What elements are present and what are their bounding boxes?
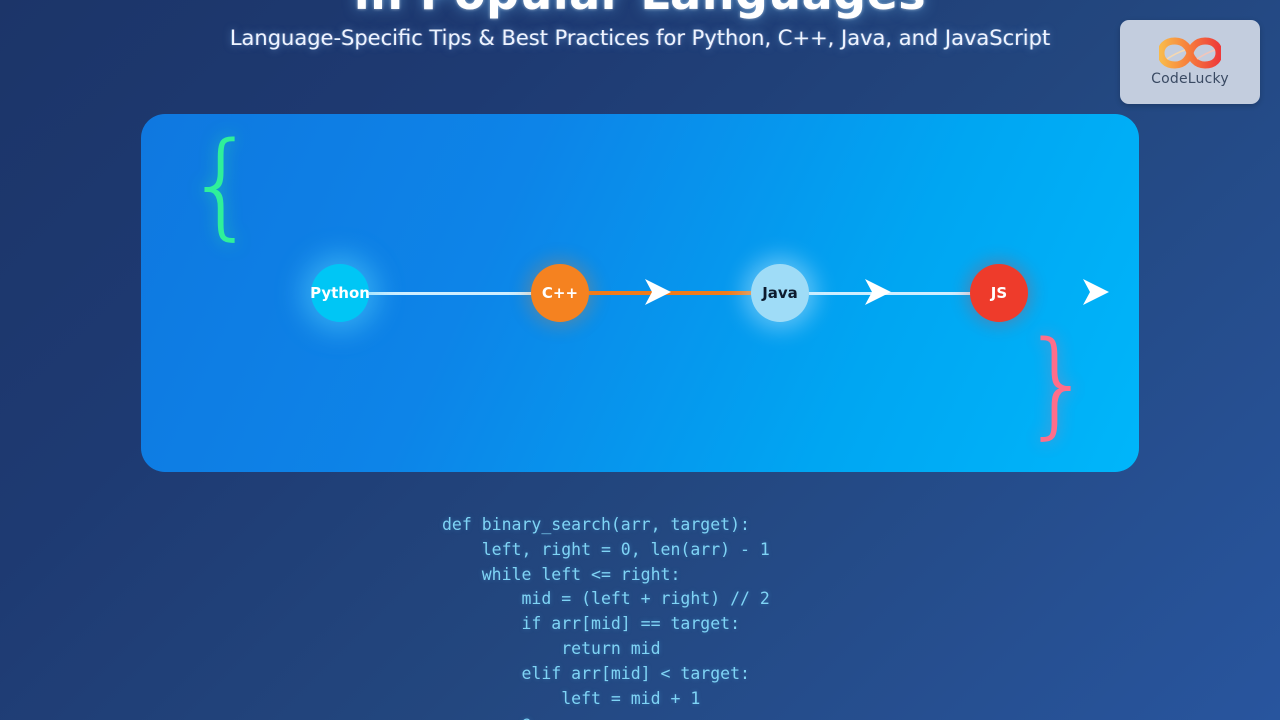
arrow-right-icon xyxy=(861,275,895,309)
page-title: in Popular Languages xyxy=(0,0,1280,20)
page-subtitle: Language-Specific Tips & Best Practices … xyxy=(0,26,1280,50)
edge-java-to-js xyxy=(809,292,985,295)
edge-cpp-to-java xyxy=(589,291,765,295)
decorative-open-brace: { xyxy=(185,128,258,243)
brand-name: CodeLucky xyxy=(1151,71,1229,87)
language-flow-panel: { } Python C++ Java JS xyxy=(141,114,1139,472)
node-js[interactable]: JS xyxy=(970,264,1028,322)
edge-python-to-cpp xyxy=(369,292,545,295)
brand-logo-badge[interactable]: CodeLucky xyxy=(1120,20,1260,104)
arrow-right-icon xyxy=(641,275,675,309)
infinity-ribbon-icon xyxy=(1159,37,1221,69)
arrow-right-icon xyxy=(1079,275,1113,309)
decorative-close-brace: } xyxy=(1021,327,1094,442)
node-cpp[interactable]: C++ xyxy=(531,264,589,322)
node-java[interactable]: Java xyxy=(751,264,809,322)
code-snippet-text: def binary_search(arr, target): left, ri… xyxy=(442,513,839,720)
language-flow-row: Python C++ Java JS xyxy=(141,264,1139,324)
node-python[interactable]: Python xyxy=(311,264,369,322)
code-snippet-panel: def binary_search(arr, target): left, ri… xyxy=(420,493,861,720)
page-header: in Popular Languages Language-Specific T… xyxy=(0,0,1280,100)
